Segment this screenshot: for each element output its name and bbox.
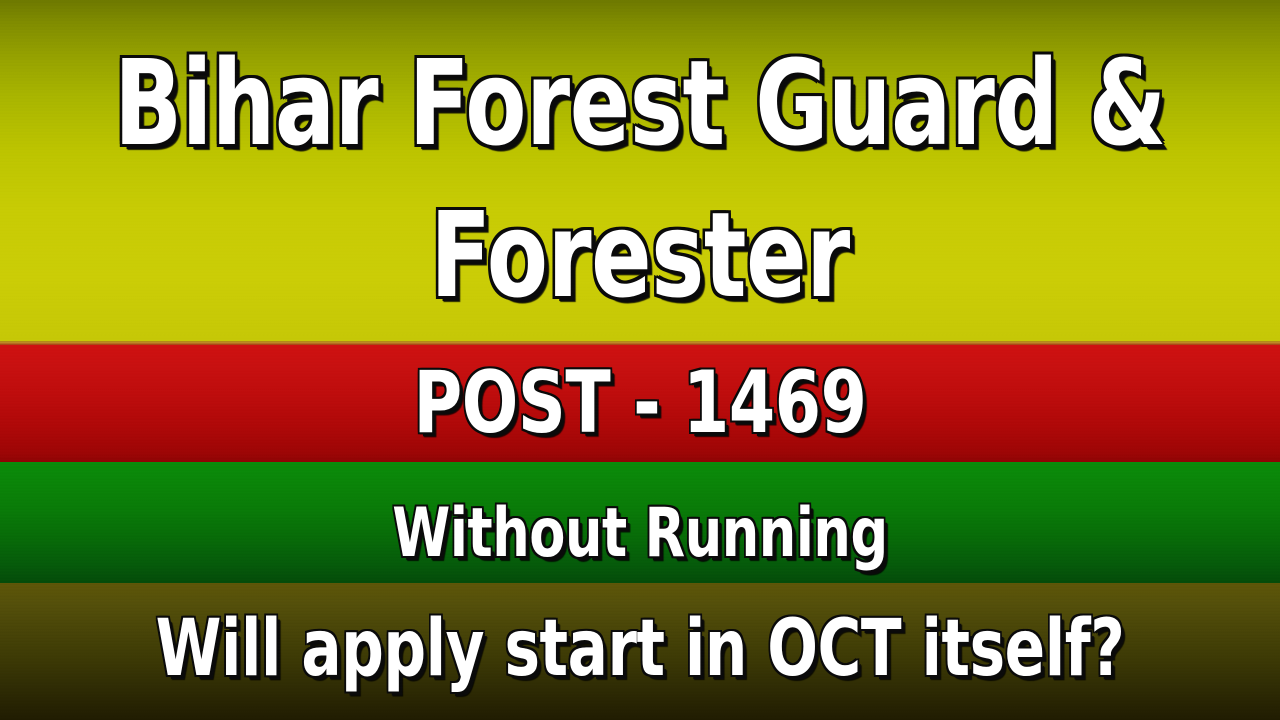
post-count-label: POST - 1469 [90, 360, 1191, 446]
thumbnail-canvas: Bihar Forest Guard & Forester POST - 146… [0, 0, 1280, 720]
subtitle-label: Without Running [90, 500, 1191, 568]
title-line-2: Forester [102, 196, 1177, 314]
title-line-1: Bihar Forest Guard & [102, 44, 1177, 162]
question-label: Will apply start in OCT itself? [96, 610, 1184, 688]
